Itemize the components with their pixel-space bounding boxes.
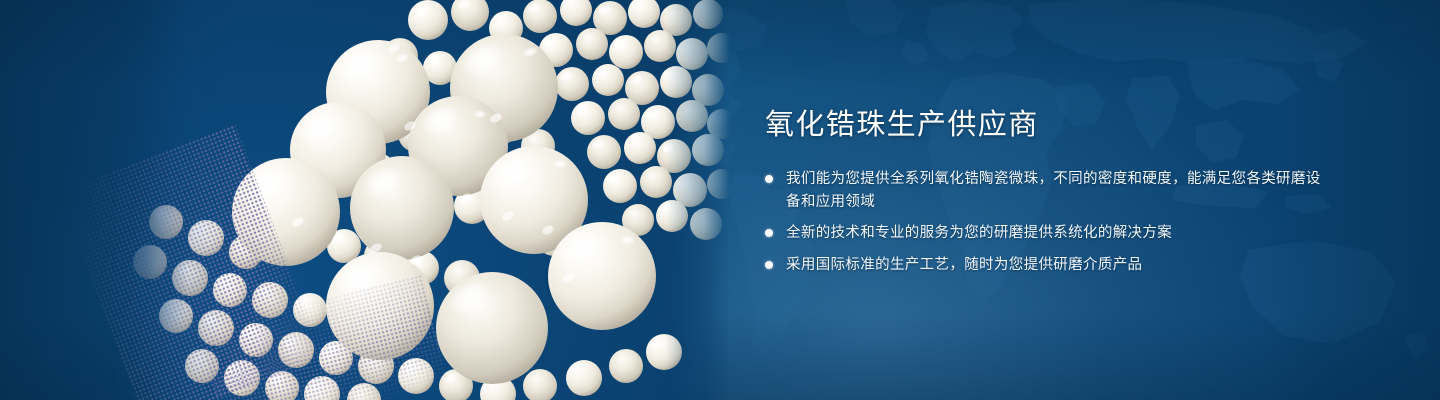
feature-list: 我们能为您提供全系列氧化锆陶瓷微珠，不同的密度和硬度，能满足您各类研磨设备和应用…	[765, 168, 1325, 276]
list-item-label: 我们能为您提供全系列氧化锆陶瓷微珠，不同的密度和硬度，能满足您各类研磨设备和应用…	[786, 168, 1325, 213]
bullet-dot-icon	[765, 175, 773, 183]
list-item: 采用国际标准的生产工艺，随时为您提供研磨介质产品	[765, 254, 1325, 277]
hero-banner: 氧化锆珠生产供应商 我们能为您提供全系列氧化锆陶瓷微珠，不同的密度和硬度，能满足…	[0, 0, 1440, 400]
list-item: 我们能为您提供全系列氧化锆陶瓷微珠，不同的密度和硬度，能满足您各类研磨设备和应用…	[765, 168, 1325, 213]
page-title: 氧化锆珠生产供应商	[765, 108, 1325, 142]
banner-copy: 氧化锆珠生产供应商 我们能为您提供全系列氧化锆陶瓷微珠，不同的密度和硬度，能满足…	[765, 108, 1325, 285]
bullet-dot-icon	[765, 261, 773, 269]
list-item: 全新的技术和专业的服务为您的研磨提供系统化的解决方案	[765, 222, 1325, 245]
list-item-label: 采用国际标准的生产工艺，随时为您提供研磨介质产品	[786, 254, 1142, 277]
bullet-dot-icon	[765, 229, 773, 237]
zirconia-beads-photo	[110, 0, 730, 400]
list-item-label: 全新的技术和专业的服务为您的研磨提供系统化的解决方案	[786, 222, 1172, 245]
